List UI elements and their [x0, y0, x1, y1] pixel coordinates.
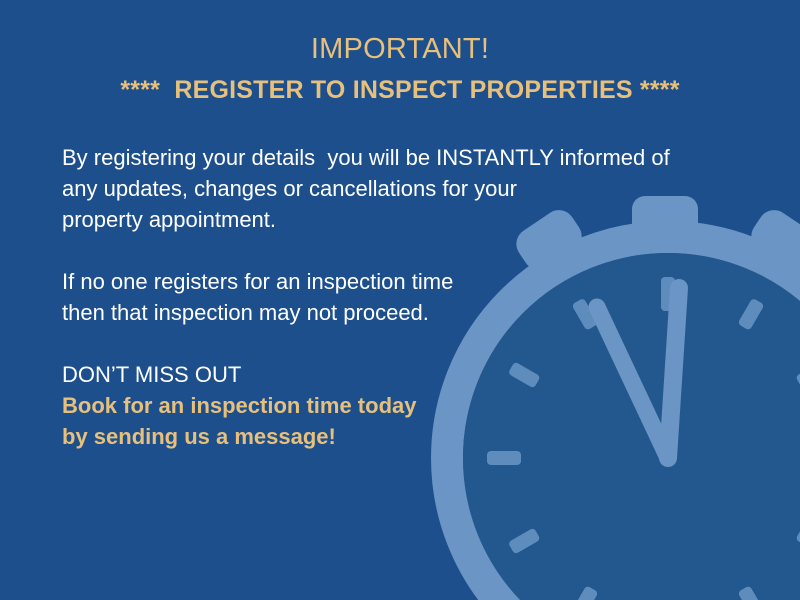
slide-canvas: IMPORTANT! **** REGISTER TO INSPECT PROP…	[0, 0, 800, 600]
text-line: property appointment.	[62, 204, 722, 235]
paragraph-no-registration: If no one registers for an inspection ti…	[62, 266, 722, 328]
text-line: then that inspection may not proceed.	[62, 297, 722, 328]
dont-miss-out-line: DON’T MISS OUT	[62, 359, 722, 390]
paragraph-call-to-action: DON’T MISS OUT Book for an inspection ti…	[62, 359, 722, 452]
heading-block: IMPORTANT! **** REGISTER TO INSPECT PROP…	[0, 30, 800, 106]
body-copy: By registering your details you will be …	[62, 142, 722, 452]
text-line: any updates, changes or cancellations fo…	[62, 173, 722, 204]
send-message-line: by sending us a message!	[62, 421, 722, 452]
text-line: By registering your details you will be …	[62, 142, 722, 173]
book-inspection-line: Book for an inspection time today	[62, 390, 722, 421]
paragraph-registering: By registering your details you will be …	[62, 142, 722, 235]
text-line: If no one registers for an inspection ti…	[62, 266, 722, 297]
page-title: IMPORTANT!	[0, 30, 800, 68]
page-subtitle: **** REGISTER TO INSPECT PROPERTIES ****	[0, 74, 800, 106]
